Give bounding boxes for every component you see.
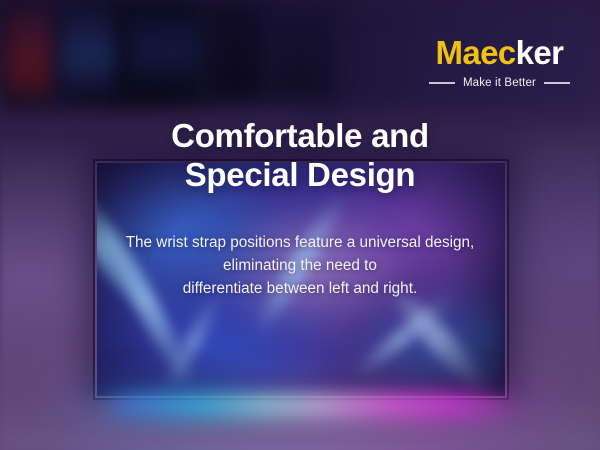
body-copy-line-2: eliminating the need to bbox=[126, 254, 475, 277]
headline-line-2: Special Design bbox=[171, 155, 429, 194]
brand-wordmark-accent: Maec bbox=[436, 34, 516, 71]
brand-logo: Maecker Make it Better bbox=[429, 36, 570, 89]
tagline-dash-left-icon bbox=[429, 82, 455, 84]
body-copy-line-3: differentiate between left and right. bbox=[126, 277, 475, 300]
page-title: Comfortable and Special Design bbox=[171, 116, 429, 195]
tagline-dash-right-icon bbox=[544, 82, 570, 84]
brand-tagline-row: Make it Better bbox=[429, 77, 570, 89]
brand-wordmark-light: ker bbox=[516, 34, 564, 71]
headline-line-1: Comfortable and bbox=[171, 117, 429, 154]
brand-tagline: Make it Better bbox=[463, 77, 536, 89]
body-copy: The wrist strap positions feature a univ… bbox=[126, 231, 475, 301]
product-feature-banner: Maecker Make it Better Comfortable and S… bbox=[0, 0, 600, 450]
brand-wordmark: Maecker bbox=[429, 36, 570, 69]
body-copy-line-1: The wrist strap positions feature a univ… bbox=[126, 231, 475, 254]
